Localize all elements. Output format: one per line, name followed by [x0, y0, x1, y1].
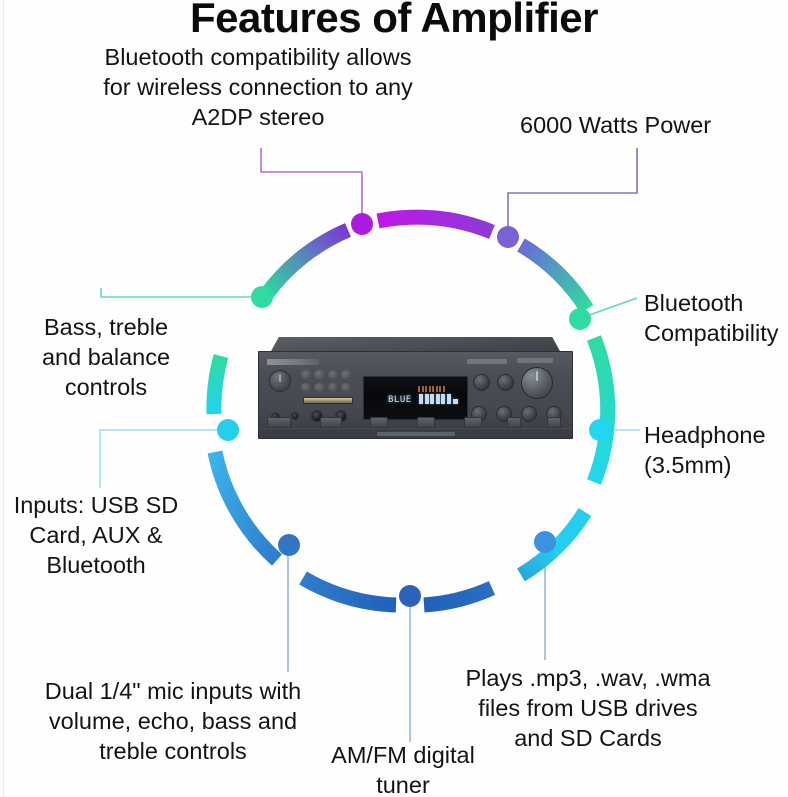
- amplifier-right-label-1: [467, 359, 507, 364]
- node-dot-tone-controls[interactable]: [251, 286, 273, 308]
- connector-inputs: [100, 430, 226, 488]
- node-dot-media-files[interactable]: [534, 531, 556, 553]
- power-knob[interactable]: [269, 370, 291, 392]
- node-dot-bluetooth-a2dp[interactable]: [351, 213, 373, 235]
- feature-label-tone-controls: Bass, treble and balance controls: [10, 312, 202, 402]
- bottom-button[interactable]: [547, 417, 561, 428]
- bottom-button[interactable]: [507, 417, 521, 428]
- ring-arc-bottom-left: [215, 452, 277, 560]
- knob-mic-level[interactable]: [497, 374, 514, 391]
- bottom-button[interactable]: [464, 417, 482, 428]
- display-level-bars: [419, 394, 451, 404]
- feature-label-bluetooth-a2dp: Bluetooth compatibility allows for wirel…: [58, 42, 458, 132]
- feature-label-power: 6000 Watts Power: [520, 110, 780, 140]
- amplifier-right-label-2: [517, 358, 553, 363]
- grid-button[interactable]: [301, 370, 311, 380]
- amplifier-bottom-buttons[interactable]: [267, 417, 567, 428]
- page-title: Features of Amplifier: [0, 0, 788, 42]
- grid-button[interactable]: [341, 383, 351, 393]
- grid-button[interactable]: [301, 383, 311, 393]
- infographic-page: Features of Amplifier: [0, 0, 788, 797]
- node-dot-mic-inputs[interactable]: [278, 534, 300, 556]
- amplifier-display: BLUE: [363, 376, 468, 420]
- master-volume-knob[interactable]: [521, 367, 553, 399]
- node-dot-power[interactable]: [497, 226, 519, 248]
- ring-arc-left: [214, 356, 221, 414]
- amplifier-brand-logo: [267, 359, 319, 365]
- bottom-button[interactable]: [267, 417, 291, 428]
- node-dot-bluetooth-compat[interactable]: [569, 308, 591, 330]
- knob-input-select[interactable]: [473, 374, 490, 391]
- bottom-button[interactable]: [370, 417, 388, 428]
- amplifier-small-knobs-top[interactable]: [473, 374, 515, 392]
- ring-arc-top: [378, 217, 492, 232]
- bottom-button[interactable]: [320, 417, 342, 428]
- connector-power: [508, 148, 637, 236]
- display-tick-marks: [418, 386, 445, 392]
- bottom-button[interactable]: [417, 417, 435, 428]
- connector-tone-controls: [101, 288, 259, 297]
- grid-button[interactable]: [328, 370, 338, 380]
- page-frame-divider: [3, 0, 4, 797]
- grid-button[interactable]: [314, 383, 324, 393]
- node-dot-am-fm[interactable]: [399, 585, 421, 607]
- feature-label-bluetooth-compatibility: Bluetooth Compatibility: [644, 288, 788, 348]
- connector-bluetooth-compat: [581, 298, 637, 318]
- node-dot-inputs[interactable]: [217, 419, 239, 441]
- amplifier-button-grid[interactable]: [301, 370, 351, 392]
- display-source-text: BLUE: [388, 395, 412, 405]
- ring-arc-bottom-right: [521, 512, 585, 575]
- grid-button[interactable]: [328, 383, 338, 393]
- node-dot-headphone[interactable]: [589, 419, 611, 441]
- amplifier-product-image: BLUE: [258, 337, 573, 439]
- amplifier-model-text: [377, 432, 455, 436]
- feature-label-inputs: Inputs: USB SD Card, AUX & Bluetooth: [0, 490, 196, 580]
- ring-arc-top-left: [266, 230, 348, 295]
- grid-button[interactable]: [314, 370, 324, 380]
- ring-arc-top-right: [521, 245, 587, 309]
- connector-bluetooth-a2dp: [261, 148, 362, 224]
- ring-arc-right: [594, 338, 608, 482]
- display-indicator-dot: [453, 399, 458, 404]
- usb-sd-slot[interactable]: [303, 397, 353, 404]
- ring-arc-bottom-a: [303, 578, 396, 605]
- ring-arc-bottom-b: [424, 588, 492, 605]
- feature-label-mic-inputs: Dual 1/4" mic inputs with volume, echo, …: [8, 676, 338, 766]
- feature-label-headphone: Headphone (3.5mm): [644, 420, 788, 480]
- grid-button[interactable]: [341, 370, 351, 380]
- amplifier-front-panel: BLUE: [258, 351, 573, 439]
